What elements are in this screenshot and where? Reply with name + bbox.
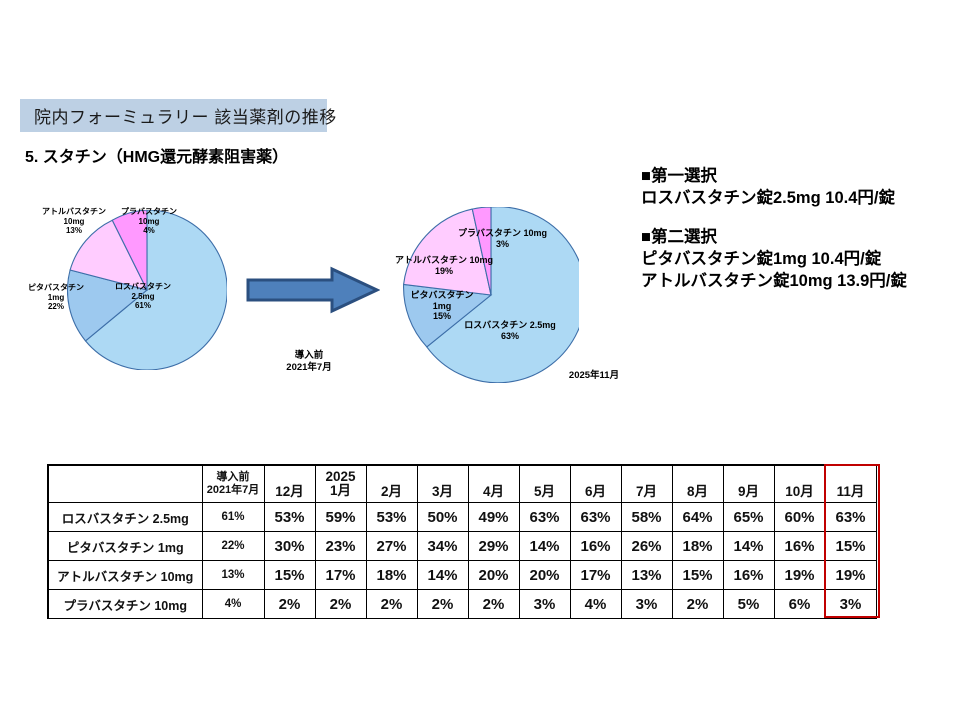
page-title-banner: 院内フォーミュラリー 該当薬剤の推移: [20, 99, 327, 132]
header-line-1: 導入前: [203, 471, 264, 484]
header-line-2: 2021年7月: [203, 484, 264, 497]
cell-m5: 63%: [519, 503, 570, 532]
cell-m4: 20%: [468, 561, 519, 590]
cell-m3: 34%: [417, 532, 468, 561]
cell-m4: 49%: [468, 503, 519, 532]
table-header-m7: 7月: [621, 465, 672, 503]
label-name: プラバスタチン: [113, 207, 185, 217]
pie-right-label-rosuvastatin: ロスバスタチン 2.5mg 63%: [452, 320, 568, 341]
label-name: ロスバスタチン: [100, 282, 186, 292]
cell-m9: 16%: [723, 561, 774, 590]
cell-m1: 17%: [315, 561, 366, 590]
label-name: ピタバスタチン: [404, 290, 480, 301]
cell-m9: 14%: [723, 532, 774, 561]
pie-left-date-label: 導入前 2021年7月: [255, 350, 363, 374]
cell-m8: 2%: [672, 590, 723, 619]
pie-right-date-label: 2025年11月: [540, 370, 648, 382]
cell-m8: 15%: [672, 561, 723, 590]
row-label: ピタバスタチン 1mg: [48, 532, 202, 561]
label-name: アトルバスタチン: [35, 207, 113, 217]
table-header-m9: 9月: [723, 465, 774, 503]
header-label: 12月: [265, 484, 315, 499]
cell-m6: 16%: [570, 532, 621, 561]
header-label: 5月: [520, 484, 570, 499]
cell-m4: 2%: [468, 590, 519, 619]
header-label: 3月: [418, 484, 468, 499]
cell-m6: 4%: [570, 590, 621, 619]
cell-m4: 29%: [468, 532, 519, 561]
pie-right-label-pitavastatin: ピタバスタチン 1mg 15%: [404, 290, 480, 322]
table-row: ピタバスタチン 1mg 22% 30% 23% 27% 34% 29% 14% …: [48, 532, 876, 561]
page-title: 院内フォーミュラリー 該当薬剤の推移: [20, 103, 337, 128]
table-header-row: 導入前 2021年7月 12月 2025 1月 2月 3月 4月: [48, 465, 876, 503]
cell-m1: 59%: [315, 503, 366, 532]
table-header-m5: 5月: [519, 465, 570, 503]
cell-m12: 15%: [264, 561, 315, 590]
cell-m11: 15%: [825, 532, 876, 561]
cell-m8: 64%: [672, 503, 723, 532]
header-label: 6月: [571, 484, 621, 499]
label-dose: 1mg: [404, 301, 480, 312]
recommendation-notes: ■第一選択 ロスバスタチン錠2.5mg 10.4円/錠 ■第二選択 ピタバスタチ…: [641, 166, 956, 292]
cell-m7: 3%: [621, 590, 672, 619]
cell-pre: 4%: [202, 590, 264, 619]
date-line-1: 導入前: [255, 350, 363, 362]
table-header-pre: 導入前 2021年7月: [202, 465, 264, 503]
cell-m2: 2%: [366, 590, 417, 619]
cell-m9: 5%: [723, 590, 774, 619]
header-label: 7月: [622, 484, 672, 499]
table-row: アトルバスタチン 10mg 13% 15% 17% 18% 14% 20% 20…: [48, 561, 876, 590]
header-line-2: 1月: [316, 484, 366, 498]
cell-pre: 13%: [202, 561, 264, 590]
header-label: 9月: [724, 484, 774, 499]
cell-m1: 23%: [315, 532, 366, 561]
cell-m8: 18%: [672, 532, 723, 561]
label-pct: 3%: [450, 239, 555, 250]
arrow-right-icon: [246, 266, 380, 314]
table-header-m11: 11月: [825, 465, 876, 503]
transition-arrow: [246, 266, 380, 319]
cell-m1: 2%: [315, 590, 366, 619]
cell-m5: 14%: [519, 532, 570, 561]
cell-m11: 3%: [825, 590, 876, 619]
cell-m11: 63%: [825, 503, 876, 532]
cell-m10: 19%: [774, 561, 825, 590]
cell-m10: 16%: [774, 532, 825, 561]
cell-m12: 30%: [264, 532, 315, 561]
cell-m2: 53%: [366, 503, 417, 532]
table-corner-cell: [48, 465, 202, 503]
table-header-m6: 6月: [570, 465, 621, 503]
second-choice-heading: ■第二選択: [641, 227, 956, 248]
cell-pre: 61%: [202, 503, 264, 532]
header-label: 10月: [775, 484, 825, 499]
date-line-1: 2025年11月: [540, 370, 648, 382]
pie-right-label-atorvastatin: アトルバスタチン 10mg 19%: [389, 255, 499, 276]
cell-m5: 20%: [519, 561, 570, 590]
pie-left-label-atorvastatin: アトルバスタチン 10mg 13%: [35, 207, 113, 236]
label-dose: 10mg: [35, 217, 113, 227]
label-pct: 4%: [113, 226, 185, 236]
pie-right-label-pravastatin: プラバスタチン 10mg 3%: [450, 228, 555, 249]
cell-m2: 18%: [366, 561, 417, 590]
cell-m9: 65%: [723, 503, 774, 532]
cell-m3: 2%: [417, 590, 468, 619]
table-header-m3: 3月: [417, 465, 468, 503]
label-dose: 1mg: [20, 293, 92, 303]
label-name: アトルバスタチン 10mg: [389, 255, 499, 266]
second-choice-drug-1: ピタバスタチン錠1mg 10.4円/錠: [641, 248, 956, 270]
cell-m10: 6%: [774, 590, 825, 619]
pie-left-label-rosuvastatin: ロスバスタチン 2.5mg 61%: [100, 282, 186, 311]
table-header-m12: 12月: [264, 465, 315, 503]
label-pct: 13%: [35, 226, 113, 236]
header-line-1: 2025: [316, 470, 366, 484]
header-label: 2月: [367, 484, 417, 499]
label-pct: 15%: [404, 311, 480, 322]
section-heading: 5. スタチン（HMG還元酵素阻害薬）: [25, 143, 288, 167]
cell-pre: 22%: [202, 532, 264, 561]
table-header-m8: 8月: [672, 465, 723, 503]
pie-left-label-pravastatin: プラバスタチン 10mg 4%: [113, 207, 185, 236]
label-dose: 2.5mg: [100, 292, 186, 302]
label-name: ロスバスタチン 2.5mg: [452, 320, 568, 331]
cell-m7: 58%: [621, 503, 672, 532]
pie-left-label-pitavastatin: ピタバスタチン 1mg 22%: [20, 283, 92, 312]
table-row: プラバスタチン 10mg 4% 2% 2% 2% 2% 2% 3% 4% 3% …: [48, 590, 876, 619]
cell-m7: 13%: [621, 561, 672, 590]
cell-m12: 2%: [264, 590, 315, 619]
table-header-m10: 10月: [774, 465, 825, 503]
label-name: ピタバスタチン: [20, 283, 92, 293]
drug-share-table: 導入前 2021年7月 12月 2025 1月 2月 3月 4月: [47, 464, 877, 619]
row-label: プラバスタチン 10mg: [48, 590, 202, 619]
row-label: ロスバスタチン 2.5mg: [48, 503, 202, 532]
table-header-m2: 2月: [366, 465, 417, 503]
cell-m3: 50%: [417, 503, 468, 532]
label-pct: 19%: [389, 266, 499, 277]
cell-m7: 26%: [621, 532, 672, 561]
cell-m11: 19%: [825, 561, 876, 590]
cell-m2: 27%: [366, 532, 417, 561]
cell-m12: 53%: [264, 503, 315, 532]
first-choice-drug: ロスバスタチン錠2.5mg 10.4円/錠: [641, 187, 956, 209]
row-label: アトルバスタチン 10mg: [48, 561, 202, 590]
table-header-m4: 4月: [468, 465, 519, 503]
table-header-m1: 2025 1月: [315, 465, 366, 503]
label-pct: 22%: [20, 302, 92, 312]
label-dose: 10mg: [113, 217, 185, 227]
header-label: 11月: [826, 484, 876, 499]
table-row: ロスバスタチン 2.5mg 61% 53% 59% 53% 50% 49% 63…: [48, 503, 876, 532]
cell-m6: 63%: [570, 503, 621, 532]
first-choice-heading: ■第一選択: [641, 166, 956, 187]
header-label: 8月: [673, 484, 723, 499]
header-label: 4月: [469, 484, 519, 499]
label-name: プラバスタチン 10mg: [450, 228, 555, 239]
label-pct: 63%: [452, 331, 568, 342]
cell-m10: 60%: [774, 503, 825, 532]
date-line-2: 2021年7月: [255, 362, 363, 374]
cell-m5: 3%: [519, 590, 570, 619]
label-pct: 61%: [100, 301, 186, 311]
notes-spacer: [641, 209, 956, 227]
cell-m6: 17%: [570, 561, 621, 590]
second-choice-drug-2: アトルバスタチン錠10mg 13.9円/錠: [641, 270, 956, 292]
cell-m3: 14%: [417, 561, 468, 590]
